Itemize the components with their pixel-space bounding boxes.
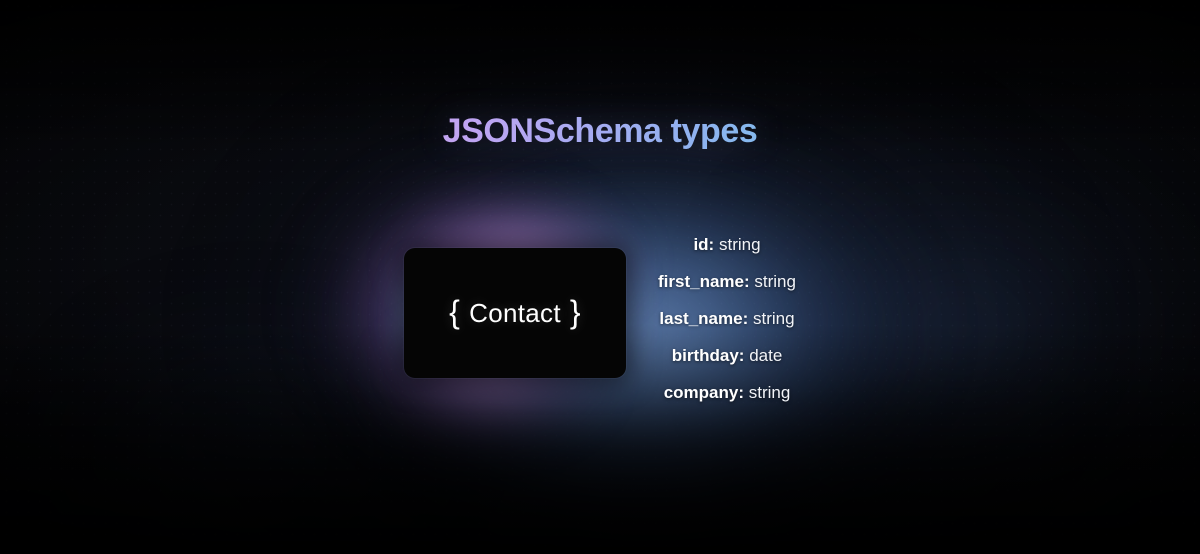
field-key: id: <box>693 235 714 254</box>
list-item: company: string <box>617 374 837 411</box>
page-title: JSONSchema types <box>0 112 1200 151</box>
schema-field-list: id: string first_name: string last_name:… <box>617 226 837 411</box>
list-item: last_name: string <box>617 300 837 337</box>
field-key: first_name: <box>658 272 750 291</box>
field-type: string <box>749 383 791 402</box>
schema-card-name: Contact <box>469 298 561 329</box>
field-type: string <box>753 309 795 328</box>
schema-card-label: { Contact } <box>449 297 581 329</box>
field-type: string <box>754 272 796 291</box>
field-key: birthday: <box>672 346 745 365</box>
schema-card-contact[interactable]: { Contact } <box>404 248 626 378</box>
open-brace-icon: { <box>449 296 460 328</box>
field-type: string <box>719 235 761 254</box>
field-type: date <box>749 346 782 365</box>
list-item: birthday: date <box>617 337 837 374</box>
close-brace-icon: } <box>570 296 581 328</box>
schema-diagram-canvas: JSONSchema types { Contact } id: string … <box>0 0 1200 554</box>
list-item: id: string <box>617 226 837 263</box>
list-item: first_name: string <box>617 263 837 300</box>
field-key: company: <box>664 383 744 402</box>
field-key: last_name: <box>659 309 748 328</box>
